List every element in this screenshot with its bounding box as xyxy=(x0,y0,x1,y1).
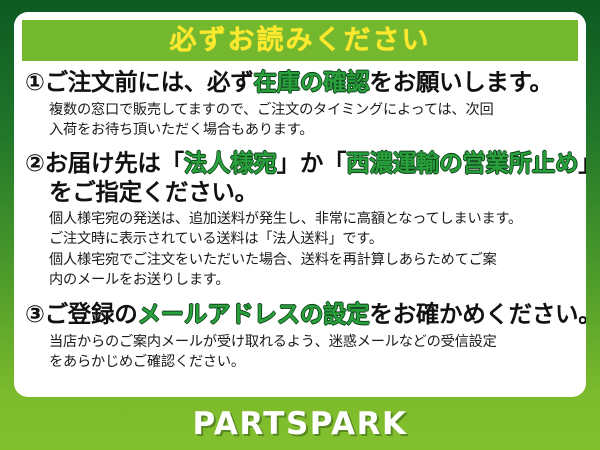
notice-item-2-quote1-close: 」 xyxy=(277,150,300,176)
notice-item-2-marker: ② xyxy=(25,150,45,176)
notice-item-1-heading-pre: ご注文前には、必ず xyxy=(45,69,254,95)
notice-item-2-heading-mid: か xyxy=(300,150,323,176)
notice-item-3-heading: ③ご登録のメールアドレスの設定をお確かめください。 xyxy=(25,300,577,329)
notice-item-1: ①ご注文前には、必ず在庫の確認をお願いします。 複数の窓口で販売してますので、ご… xyxy=(25,68,577,140)
notice-item-3-heading-pre: ご登録の xyxy=(45,301,138,327)
notice-item-2-heading: ②お届け先は「法人様宛」か「西濃運輸の営業所止め」 xyxy=(25,149,577,178)
notice-item-1-heading: ①ご注文前には、必ず在庫の確認をお願いします。 xyxy=(25,68,577,97)
notice-banner: 必ずお読みください ①ご注文前には、必ず在庫の確認をお願いします。 複数の窓口で… xyxy=(0,0,600,450)
notice-item-1-marker: ① xyxy=(25,69,45,95)
header-band: 必ずお読みください xyxy=(22,20,578,61)
notice-item-2-quote2-open: 「 xyxy=(323,150,346,176)
notice-content: ①ご注文前には、必ず在庫の確認をお願いします。 複数の窓口で販売してますので、ご… xyxy=(14,66,586,372)
footer: PARTSPARK xyxy=(0,397,600,450)
notice-card: 必ずお読みください ①ご注文前には、必ず在庫の確認をお願いします。 複数の窓口で… xyxy=(14,12,586,397)
partspark-logo: PARTSPARK xyxy=(192,406,407,442)
notice-item-2-quote2-close: 」 xyxy=(578,150,586,176)
notice-item-3-heading-post: をお確かめください。 xyxy=(369,301,586,327)
notice-item-1-body: 複数の窓口で販売してますので、ご注文のタイミングによっては、次回 入荷をお待ち頂… xyxy=(25,100,577,140)
notice-item-2: ②お届け先は「法人様宛」か「西濃運輸の営業所止め」 をご指定ください。 個人様宅… xyxy=(25,149,577,290)
notice-item-3-marker: ③ xyxy=(25,301,45,327)
notice-item-1-heading-highlight: 在庫の確認 xyxy=(253,69,369,95)
notice-item-3: ③ご登録のメールアドレスの設定をお確かめください。 当店からのご案内メールが受け… xyxy=(25,300,577,372)
notice-item-3-heading-highlight: メールアドレスの設定 xyxy=(137,301,369,327)
notice-item-2-body: 個人様宅宛の発送は、追加送料が発生し、非常に高額となってしまいます。 ご注文時に… xyxy=(25,209,577,290)
notice-item-1-heading-post: をお願いします。 xyxy=(369,69,552,95)
notice-item-2-quote2-text: 西濃運輸の営業所止め xyxy=(346,150,578,176)
notice-item-3-body: 当店からのご案内メールが受け取れるよう、迷惑メールなどの受信設定 をあらかじめご… xyxy=(25,332,577,372)
notice-item-2-quote1-text: 法人様宛 xyxy=(184,150,277,176)
notice-item-2-heading-pre: お届け先は xyxy=(45,150,161,176)
header-title: 必ずお読みください xyxy=(170,27,431,54)
notice-item-2-quote1-open: 「 xyxy=(161,150,184,176)
notice-item-2-heading-line2: をご指定ください。 xyxy=(25,178,577,207)
